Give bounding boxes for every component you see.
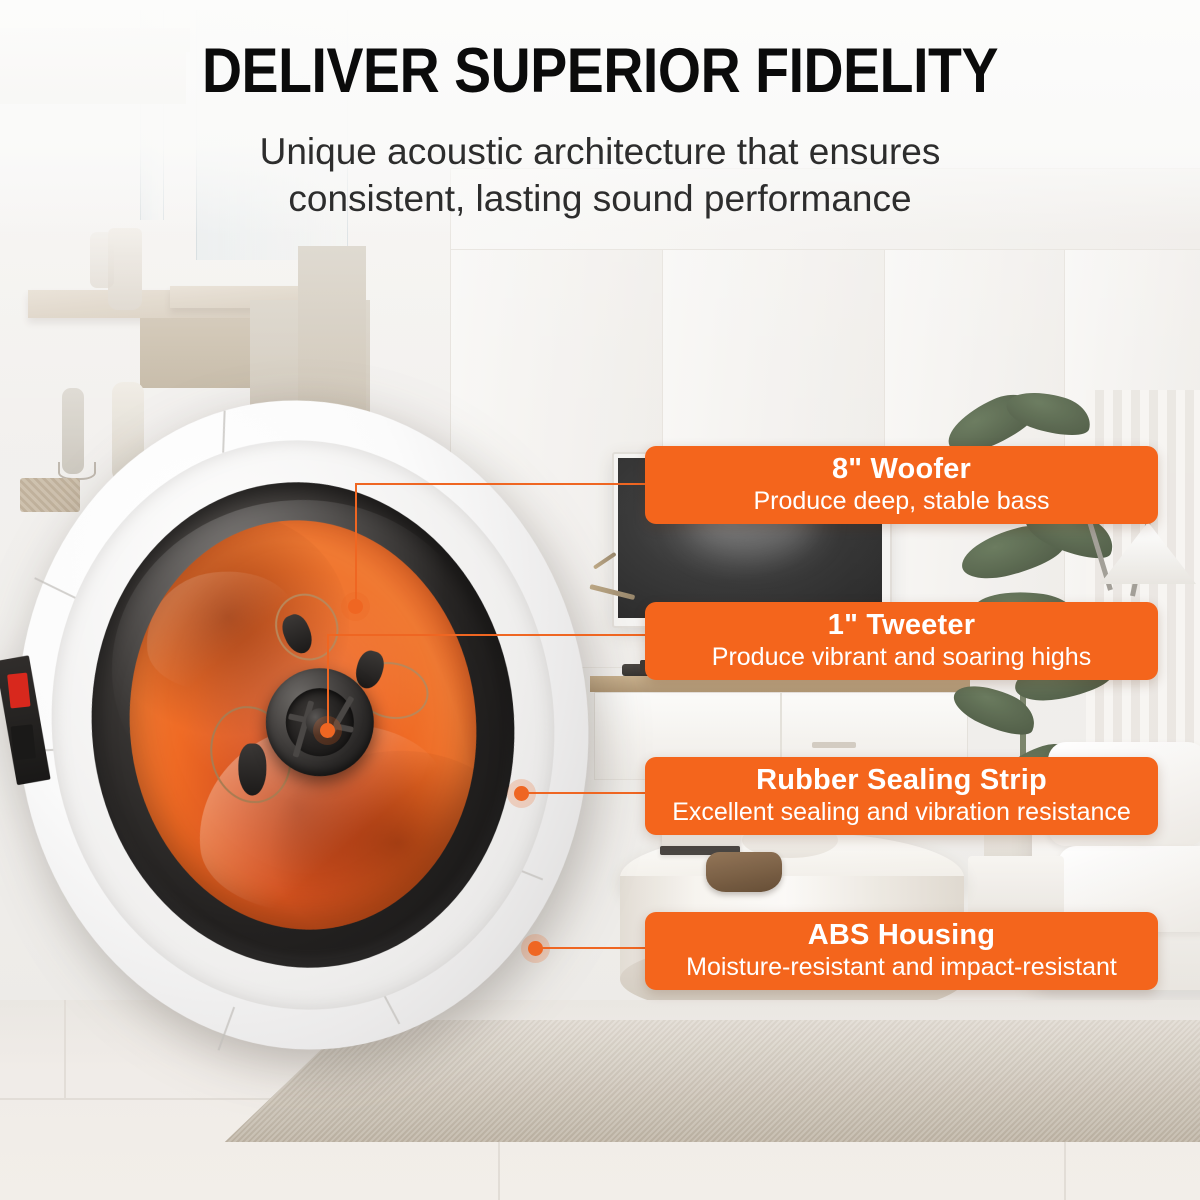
- leader-dot-tweeter: [320, 723, 335, 738]
- callout-abs-housing-title: ABS Housing: [808, 920, 995, 951]
- callout-tweeter-desc: Produce vibrant and soaring highs: [712, 644, 1091, 672]
- leader-line-abs-housing: [535, 947, 647, 949]
- page-subtitle: Unique acoustic architecture that ensure…: [0, 128, 1200, 223]
- infographic-canvas: 8" Woofer Produce deep, stable bass 1" T…: [0, 0, 1200, 1200]
- leader-line-rubber-seal: [521, 792, 647, 794]
- leader-dot-woofer: [348, 599, 363, 614]
- callout-woofer[interactable]: 8" Woofer Produce deep, stable bass: [645, 446, 1158, 524]
- callout-woofer-title: 8" Woofer: [832, 454, 971, 485]
- leader-dot-abs-housing: [528, 941, 543, 956]
- terminal-negative-black: [11, 724, 36, 760]
- leader-line-tweeter-vertical: [327, 634, 329, 730]
- callout-abs-housing[interactable]: ABS Housing Moisture-resistant and impac…: [645, 912, 1158, 990]
- leader-line-woofer-horizontal: [355, 483, 647, 485]
- callout-rubber-sealing-strip-title: Rubber Sealing Strip: [756, 765, 1047, 796]
- header-banner: DELIVER SUPERIOR FIDELITY Unique acousti…: [0, 0, 1200, 236]
- callout-rubber-sealing-strip-desc: Excellent sealing and vibration resistan…: [672, 799, 1131, 827]
- terminal-positive-red: [7, 673, 30, 709]
- callout-tweeter-title: 1" Tweeter: [828, 610, 975, 641]
- leader-line-tweeter-horizontal: [327, 634, 647, 636]
- leader-dot-rubber-seal: [514, 786, 529, 801]
- callout-rubber-sealing-strip[interactable]: Rubber Sealing Strip Excellent sealing a…: [645, 757, 1158, 835]
- page-title: DELIVER SUPERIOR FIDELITY: [72, 40, 1128, 103]
- callout-tweeter[interactable]: 1" Tweeter Produce vibrant and soaring h…: [645, 602, 1158, 680]
- page-subtitle-line1: Unique acoustic architecture that ensure…: [0, 128, 1200, 175]
- tweeter-clip-left: [238, 744, 266, 796]
- in-ceiling-speaker: [0, 372, 620, 1078]
- page-subtitle-line2: consistent, lasting sound performance: [0, 175, 1200, 222]
- leader-line-woofer-vertical: [355, 483, 357, 607]
- callout-woofer-desc: Produce deep, stable bass: [753, 488, 1049, 516]
- callout-abs-housing-desc: Moisture-resistant and impact-resistant: [686, 954, 1117, 982]
